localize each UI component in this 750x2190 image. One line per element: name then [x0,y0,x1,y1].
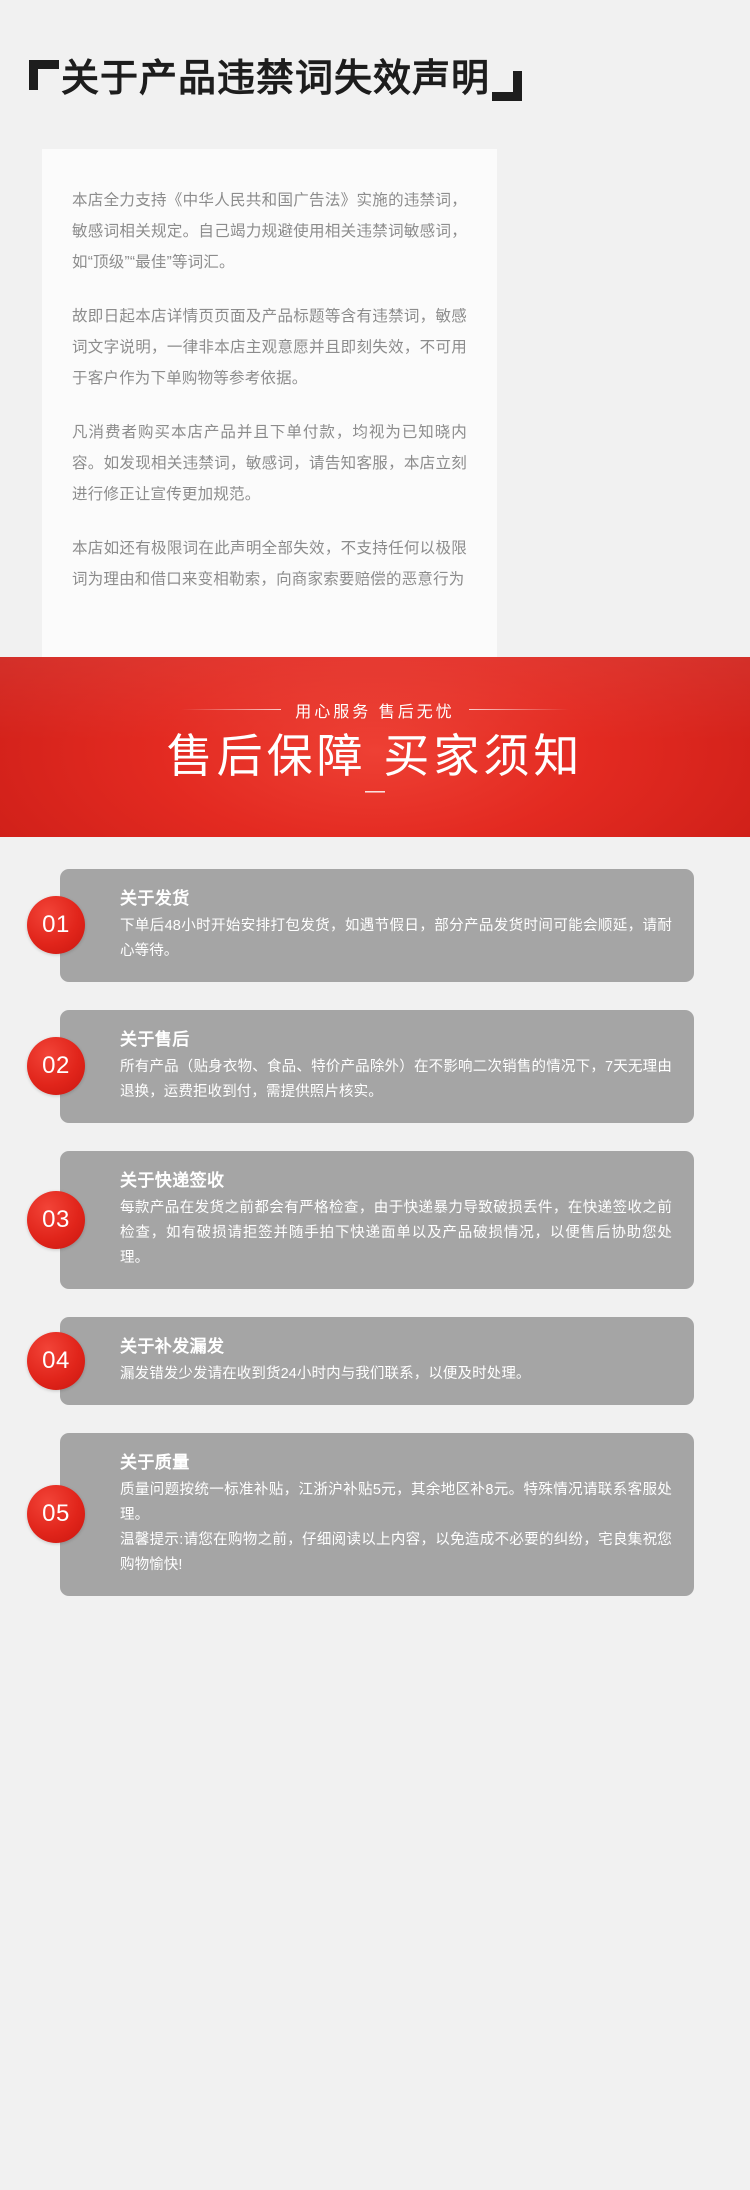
after-sales-banner: 用心服务 售后无忧 售后保障 买家须知 — [0,657,750,837]
disclaimer-title-wrap: 关于产品违禁词失效声明 [0,0,750,149]
card-title: 关于售后 [120,1026,672,1053]
card-number-badge: 02 [27,1037,85,1095]
card-body-extra: 温馨提示:请您在购物之前，仔细阅读以上内容，以免造成不必要的纠纷，宅良集祝您购物… [120,1528,672,1578]
policy-card-04: 04 关于补发漏发 漏发错发少发请在收到货24小时内与我们联系，以便及时处理。 [60,1317,694,1405]
card-number-badge: 01 [27,896,85,954]
card-title: 关于发货 [120,885,672,912]
policy-card-01: 01 关于发货 下单后48小时开始安排打包发货，如遇节假日，部分产品发货时间可能… [60,869,694,982]
bracket-close-icon [492,71,522,101]
disclaimer-paragraph: 本店全力支持《中华人民共和国广告法》实施的违禁词，敏感词相关规定。自己竭力规避使… [72,185,467,278]
card-title: 关于质量 [120,1449,672,1476]
disclaimer-paragraph: 故即日起本店详情页页面及产品标题等含有违禁词，敏感词文字说明，一律非本店主观意愿… [72,301,467,394]
card-content: 关于售后 所有产品（贴身衣物、食品、特价产品除外）在不影响二次销售的情况下，7天… [60,1010,694,1123]
card-body: 漏发错发少发请在收到货24小时内与我们联系，以便及时处理。 [120,1362,672,1387]
bracket-open-icon [29,60,59,90]
card-body: 每款产品在发货之前都会有严格检查，由于快递暴力导致破损丢件，在快递签收之前检查，… [120,1196,672,1271]
disclaimer-section: 关于产品违禁词失效声明 本店全力支持《中华人民共和国广告法》实施的违禁词，敏感词… [0,0,750,657]
policy-card-03: 03 关于快递签收 每款产品在发货之前都会有严格检查，由于快递暴力导致破损丢件，… [60,1151,694,1289]
card-number-badge: 03 [27,1191,85,1249]
card-title: 关于补发漏发 [120,1333,672,1360]
page-title-text: 关于产品违禁词失效声明 [61,58,490,100]
card-title: 关于快递签收 [120,1167,672,1194]
card-body: 所有产品（贴身衣物、食品、特价产品除外）在不影响二次销售的情况下，7天无理由退换… [120,1055,672,1105]
banner-dash-icon: — [365,787,385,795]
card-number-badge: 05 [27,1485,85,1543]
card-body: 质量问题按统一标准补贴，江浙沪补贴5元，其余地区补8元。特殊情况请联系客服处理。 [120,1478,672,1528]
banner-rule-left-icon [181,709,281,710]
disclaimer-card: 本店全力支持《中华人民共和国广告法》实施的违禁词，敏感词相关规定。自己竭力规避使… [42,149,497,657]
page-title: 关于产品违禁词失效声明 [55,59,496,101]
policy-card-02: 02 关于售后 所有产品（贴身衣物、食品、特价产品除外）在不影响二次销售的情况下… [60,1010,694,1123]
banner-subtitle-row: 用心服务 售后无忧 [181,698,568,722]
card-content: 关于补发漏发 漏发错发少发请在收到货24小时内与我们联系，以便及时处理。 [60,1317,694,1405]
card-number-badge: 04 [27,1332,85,1390]
banner-title: 售后保障 买家须知 [167,728,584,786]
policy-cards-section: 01 关于发货 下单后48小时开始安排打包发货，如遇节假日，部分产品发货时间可能… [0,837,750,1630]
card-body: 下单后48小时开始安排打包发货，如遇节假日，部分产品发货时间可能会顺延，请耐心等… [120,914,672,964]
card-content: 关于质量 质量问题按统一标准补贴，江浙沪补贴5元，其余地区补8元。特殊情况请联系… [60,1433,694,1596]
banner-subtitle: 用心服务 售后无忧 [295,698,454,722]
disclaimer-paragraph: 凡消费者购买本店产品并且下单付款，均视为已知晓内容。如发现相关违禁词，敏感词，请… [72,417,467,510]
policy-card-05: 05 关于质量 质量问题按统一标准补贴，江浙沪补贴5元，其余地区补8元。特殊情况… [60,1433,694,1596]
disclaimer-paragraph: 本店如还有极限词在此声明全部失效，不支持任何以极限词为理由和借口来变相勒索，向商… [72,533,467,595]
banner-rule-right-icon [469,709,569,710]
card-content: 关于快递签收 每款产品在发货之前都会有严格检查，由于快递暴力导致破损丢件，在快递… [60,1151,694,1289]
card-content: 关于发货 下单后48小时开始安排打包发货，如遇节假日，部分产品发货时间可能会顺延… [60,869,694,982]
